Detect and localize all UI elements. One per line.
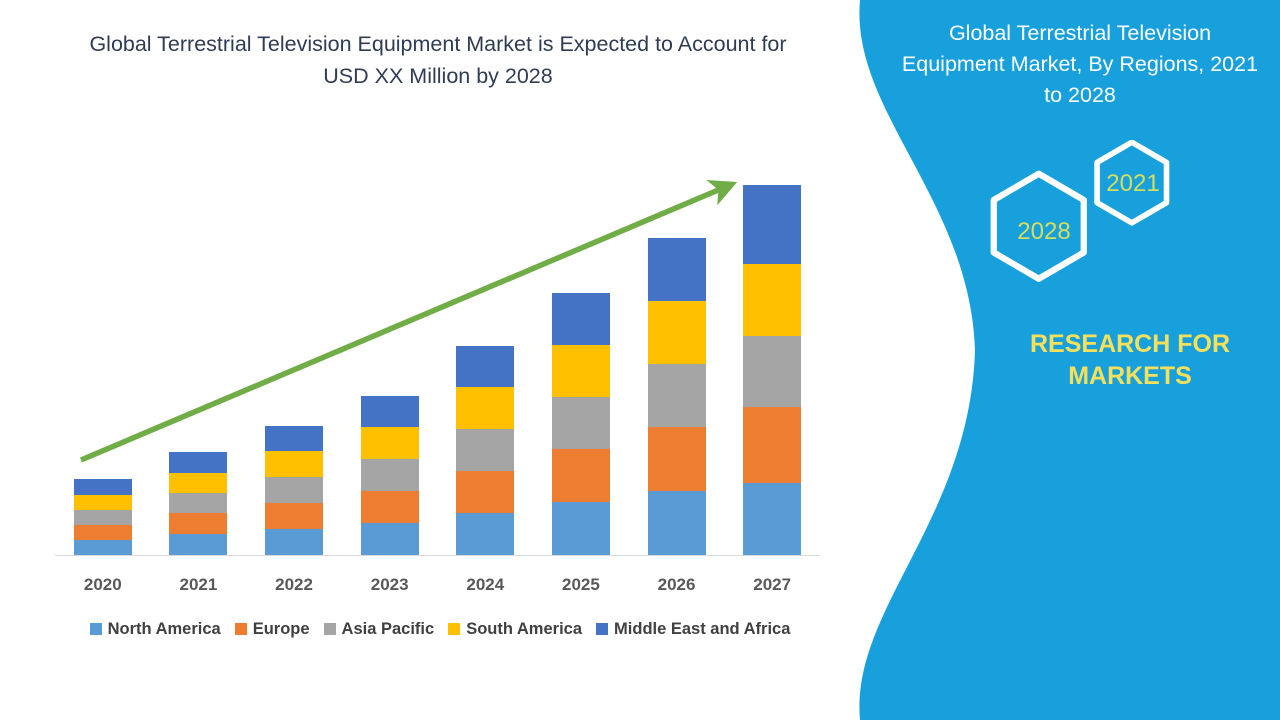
bar-segment-asia-pacific xyxy=(552,397,610,449)
bar-segment-south-america xyxy=(169,473,227,493)
stacked-bar-2026 xyxy=(648,238,706,555)
stacked-bar-2023 xyxy=(361,396,419,555)
stacked-bar-2024 xyxy=(456,346,514,555)
legend-swatch-icon xyxy=(596,623,608,635)
bar-segment-europe xyxy=(74,525,132,540)
x-axis-tick-labels: 20202021202220232024202520262027 xyxy=(55,572,820,598)
bar-segment-asia-pacific xyxy=(169,493,227,513)
panel-heading: Global Terrestrial Television Equipment … xyxy=(900,18,1260,111)
legend-swatch-icon xyxy=(324,623,336,635)
bar-segment-south-america xyxy=(743,264,801,336)
bar-segment-north-america xyxy=(265,529,323,555)
brand-wordmark: RESEARCH FOR MARKETS xyxy=(995,328,1265,392)
x-tick-2021: 2021 xyxy=(169,575,227,595)
bar-segment-europe xyxy=(648,427,706,491)
bar-segment-middle-east-and-africa xyxy=(74,479,132,495)
bar-segment-europe xyxy=(361,491,419,523)
bar-segment-south-america xyxy=(648,301,706,364)
bar-segment-middle-east-and-africa xyxy=(552,293,610,345)
x-tick-2026: 2026 xyxy=(648,575,706,595)
chart-legend: North AmericaEuropeAsia PacificSouth Ame… xyxy=(50,616,830,642)
bar-segment-middle-east-and-africa xyxy=(743,185,801,264)
stacked-bar-2020 xyxy=(74,479,132,555)
legend-label: Europe xyxy=(253,620,310,639)
bar-segment-middle-east-and-africa xyxy=(265,426,323,451)
legend-swatch-icon xyxy=(90,623,102,635)
bar-segment-asia-pacific xyxy=(265,477,323,503)
bar-segment-asia-pacific xyxy=(648,364,706,427)
bar-segment-europe xyxy=(265,503,323,529)
bar-segment-middle-east-and-africa xyxy=(361,396,419,427)
legend-item-south-america[interactable]: South America xyxy=(448,620,582,639)
bar-segment-north-america xyxy=(743,483,801,555)
stacked-bar-2027 xyxy=(743,185,801,555)
x-tick-2023: 2023 xyxy=(361,575,419,595)
legend-item-europe[interactable]: Europe xyxy=(235,620,310,639)
hexagon-badge-group: 2028 2021 xyxy=(975,140,1205,305)
legend-label: North America xyxy=(108,620,221,639)
bar-segment-middle-east-and-africa xyxy=(456,346,514,387)
legend-label: South America xyxy=(466,620,582,639)
bar-segment-asia-pacific xyxy=(361,459,419,491)
stacked-bar-2025 xyxy=(552,293,610,555)
x-tick-2020: 2020 xyxy=(74,575,132,595)
bar-segment-middle-east-and-africa xyxy=(648,238,706,301)
legend-item-north-america[interactable]: North America xyxy=(90,620,221,639)
bar-segment-asia-pacific xyxy=(74,510,132,525)
x-tick-2024: 2024 xyxy=(456,575,514,595)
x-tick-2022: 2022 xyxy=(265,575,323,595)
bar-segment-south-america xyxy=(74,495,132,510)
bar-segment-europe xyxy=(743,407,801,483)
stacked-bar-2021 xyxy=(169,452,227,555)
x-tick-2027: 2027 xyxy=(743,575,801,595)
legend-label: Middle East and Africa xyxy=(614,620,790,639)
stacked-bar-2022 xyxy=(265,426,323,555)
bar-segment-south-america xyxy=(265,451,323,477)
bar-segment-middle-east-and-africa xyxy=(169,452,227,473)
bar-segment-asia-pacific xyxy=(456,429,514,471)
legend-swatch-icon xyxy=(235,623,247,635)
bar-segment-europe xyxy=(169,513,227,534)
bar-segment-south-america xyxy=(456,387,514,429)
bar-segment-north-america xyxy=(456,513,514,555)
bar-segment-north-america xyxy=(552,502,610,555)
bar-segment-europe xyxy=(552,449,610,502)
x-tick-2025: 2025 xyxy=(552,575,610,595)
bar-segment-south-america xyxy=(361,427,419,459)
chart-title: Global Terrestrial Television Equipment … xyxy=(88,28,788,92)
legend-item-middle-east-and-africa[interactable]: Middle East and Africa xyxy=(596,620,790,639)
legend-item-asia-pacific[interactable]: Asia Pacific xyxy=(324,620,435,639)
legend-label: Asia Pacific xyxy=(342,620,435,639)
bar-segment-south-america xyxy=(552,345,610,397)
bar-segment-north-america xyxy=(648,491,706,555)
legend-swatch-icon xyxy=(448,623,460,635)
bar-segment-north-america xyxy=(361,523,419,555)
stacked-bar-group xyxy=(55,150,820,555)
hexagon-2028-label: 2028 xyxy=(989,218,1099,246)
bar-segment-north-america xyxy=(74,540,132,555)
infographic-canvas: Global Terrestrial Television Equipment … xyxy=(0,0,1280,720)
x-axis-line xyxy=(55,555,820,556)
hexagon-2021-label: 2021 xyxy=(1083,170,1183,198)
bar-segment-europe xyxy=(456,471,514,513)
bar-segment-north-america xyxy=(169,534,227,555)
bar-segment-asia-pacific xyxy=(743,336,801,407)
